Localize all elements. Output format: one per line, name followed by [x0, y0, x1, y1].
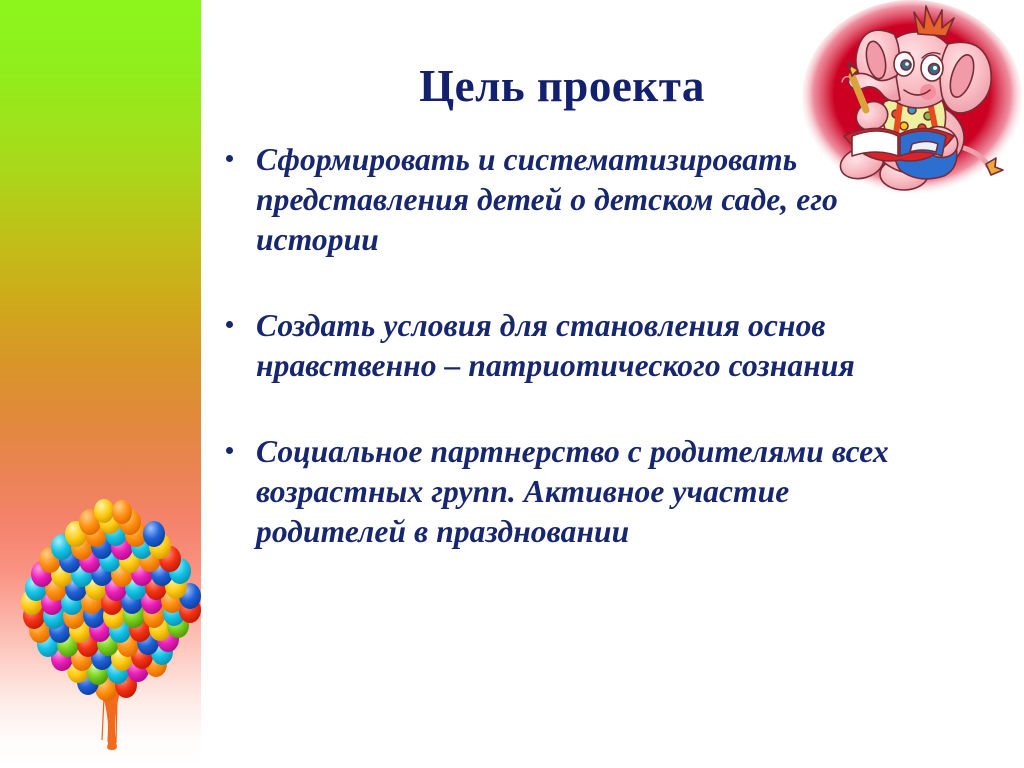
list-item: Создать условия для становления основ нр…: [226, 306, 906, 386]
list-item: Социальное партнерство с родителями всех…: [226, 432, 906, 552]
bullet-dot-icon: [226, 140, 256, 162]
list-item-text: Создать условия для становления основ нр…: [256, 306, 906, 386]
presentation-slide: Цель проекта Сформировать и систематизир…: [0, 0, 1024, 768]
bullet-list: Сформировать и систематизировать предста…: [226, 140, 906, 552]
list-item: Сформировать и систематизировать предста…: [226, 140, 906, 260]
page-title: Цель проекта: [232, 63, 892, 110]
bullet-dot-icon: [226, 306, 256, 328]
bullet-dot-icon: [226, 432, 256, 454]
list-item-text: Сформировать и систематизировать предста…: [256, 140, 906, 260]
balloon-cluster-image: [18, 492, 208, 757]
list-item-text: Социальное партнерство с родителями всех…: [256, 432, 906, 552]
